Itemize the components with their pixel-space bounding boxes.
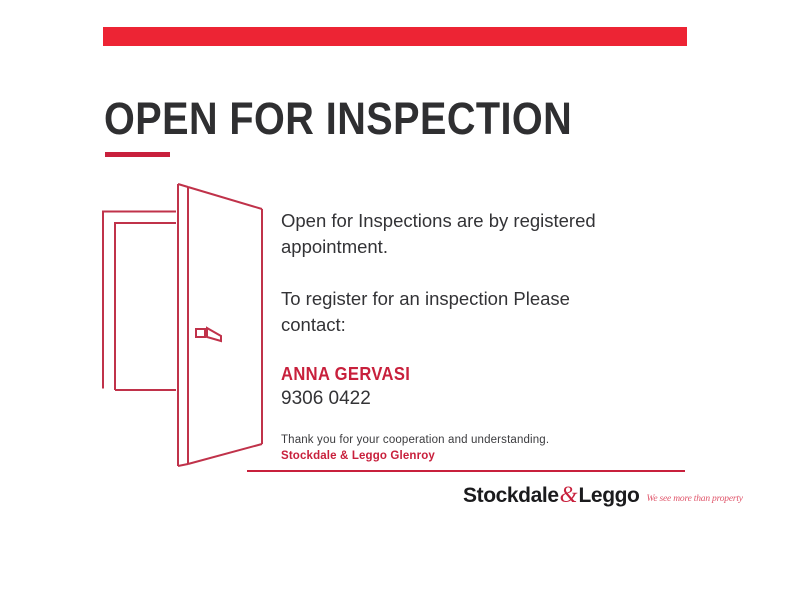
logo-word-stockdale: Stockdale: [463, 484, 559, 508]
door-frame-inner: [115, 223, 176, 390]
title-underline-rule: [105, 152, 170, 157]
door-slab-top-cap: [178, 184, 188, 187]
door-handle-plate: [196, 329, 205, 337]
door-slab-bottom-cap: [178, 464, 188, 466]
agency-line: Stockdale & Leggo Glenroy: [281, 449, 611, 464]
door-handle-lever: [207, 328, 221, 341]
footer-divider-rule: [247, 470, 685, 472]
logo-ampersand: &: [559, 482, 579, 508]
door-slab-bottom-edge: [188, 444, 262, 464]
door-slab-top-edge: [188, 187, 262, 209]
open-door-illustration: [90, 178, 290, 478]
poster-canvas: OPEN FOR INSPECTION: [0, 0, 800, 600]
logo-word-leggo: Leggo: [579, 484, 640, 508]
contact-name: ANNA GERVASI: [281, 364, 585, 385]
message-block: Open for Inspections are by registered a…: [281, 208, 611, 464]
thanks-line: Thank you for your cooperation and under…: [281, 433, 611, 448]
instruction-paragraph: To register for an inspection Please con…: [281, 286, 611, 338]
intro-paragraph: Open for Inspections are by registered a…: [281, 208, 611, 260]
page-title: OPEN FOR INSPECTION: [104, 95, 572, 143]
top-red-banner: [103, 27, 687, 46]
stockdale-leggo-logo: Stockdale & Leggo We see more than prope…: [463, 482, 743, 508]
logo-tagline: We see more than property: [647, 494, 743, 504]
door-frame-outer: [103, 212, 176, 389]
contact-phone: 9306 0422: [281, 387, 611, 411]
